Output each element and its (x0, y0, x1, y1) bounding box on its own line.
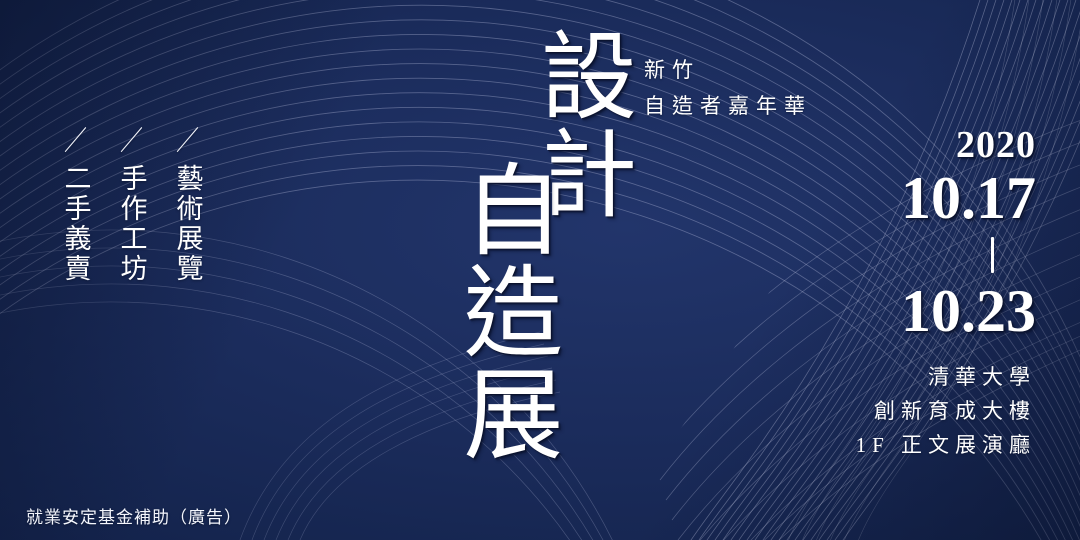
date-year: 2020 (901, 126, 1036, 164)
slash-icon: ／ (64, 128, 87, 155)
category-list: ／ 藝術展覽 ／ 手作工坊 ／ 二手義賣 (58, 128, 204, 284)
date-range-separator (901, 231, 1036, 277)
category-label: 手作工坊 (113, 164, 148, 284)
subtitle-line1: 新竹 (644, 52, 812, 88)
funding-note: 就業安定基金補助（廣告） (26, 503, 242, 528)
subtitle-line2: 自造者嘉年華 (644, 88, 812, 124)
poster-title-line2: 自造展 (446, 158, 560, 464)
slash-icon: ／ (176, 128, 199, 155)
category-item-0: ／ 藝術展覽 (170, 128, 204, 284)
category-item-1: ／ 手作工坊 (114, 128, 148, 284)
slash-icon: ／ (120, 128, 143, 155)
venue-line2: 創新育成大樓 (856, 394, 1036, 428)
event-dates: 2020 10.17 10.23 (901, 126, 1036, 342)
poster-canvas: ／ 藝術展覽 ／ 手作工坊 ／ 二手義賣 設計 自造展 新竹 自造者嘉年華 20… (0, 0, 1080, 540)
category-item-2: ／ 二手義賣 (58, 128, 92, 284)
date-start: 10.17 (901, 168, 1036, 229)
category-label: 藝術展覽 (169, 164, 204, 284)
date-end: 10.23 (901, 281, 1036, 342)
venue-line3: 1F 正文展演廳 (856, 428, 1036, 462)
venue-line1: 清華大學 (856, 360, 1036, 394)
venue-info: 清華大學 創新育成大樓 1F 正文展演廳 (856, 360, 1036, 462)
category-label: 二手義賣 (57, 164, 92, 284)
poster-subtitle: 新竹 自造者嘉年華 (644, 52, 812, 124)
